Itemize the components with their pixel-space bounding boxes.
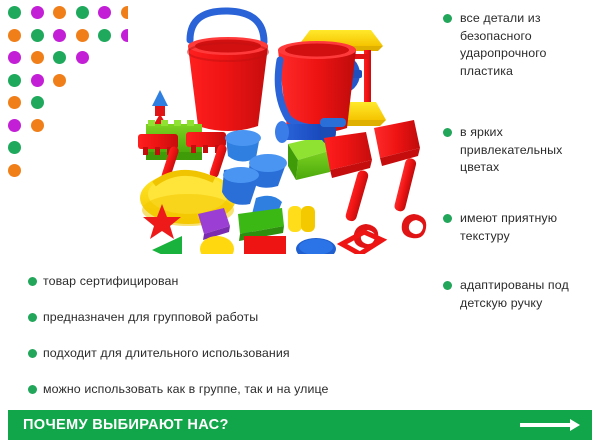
feature-text: все детали из безопасного ударопрочного … (460, 10, 600, 80)
bullet-icon (443, 281, 452, 290)
arrow-right-icon (520, 418, 580, 432)
banner-title: ПОЧЕМУ ВЫБИРАЮТ НАС? (23, 417, 229, 433)
feature-text: товар сертифицирован (43, 273, 443, 291)
bullet-icon (443, 128, 452, 137)
bullet-icon (443, 214, 452, 223)
bullet-icon (28, 313, 37, 322)
feature-text: имеют приятную текстуру (460, 210, 600, 245)
why-choose-us-banner[interactable]: ПОЧЕМУ ВЫБИРАЮТ НАС? (8, 410, 592, 440)
bullet-icon (28, 385, 37, 394)
feature-text: можно использовать как в группе, так и н… (43, 381, 443, 399)
bullet-icon (443, 14, 452, 23)
feature-text: адаптированы под детскую ручку (460, 277, 600, 312)
slide-root: все детали из безопасного ударопрочного … (0, 0, 600, 445)
bullet-icon (28, 349, 37, 358)
feature-text: в ярких привлекательных цветах (460, 124, 600, 177)
feature-text: подходит для длительного использования (43, 345, 443, 363)
feature-text: предназначен для групповой работы (43, 309, 443, 327)
bullet-icon (28, 277, 37, 286)
feature-list-bottom: товар сертифицированпредназначен для гру… (0, 260, 440, 410)
